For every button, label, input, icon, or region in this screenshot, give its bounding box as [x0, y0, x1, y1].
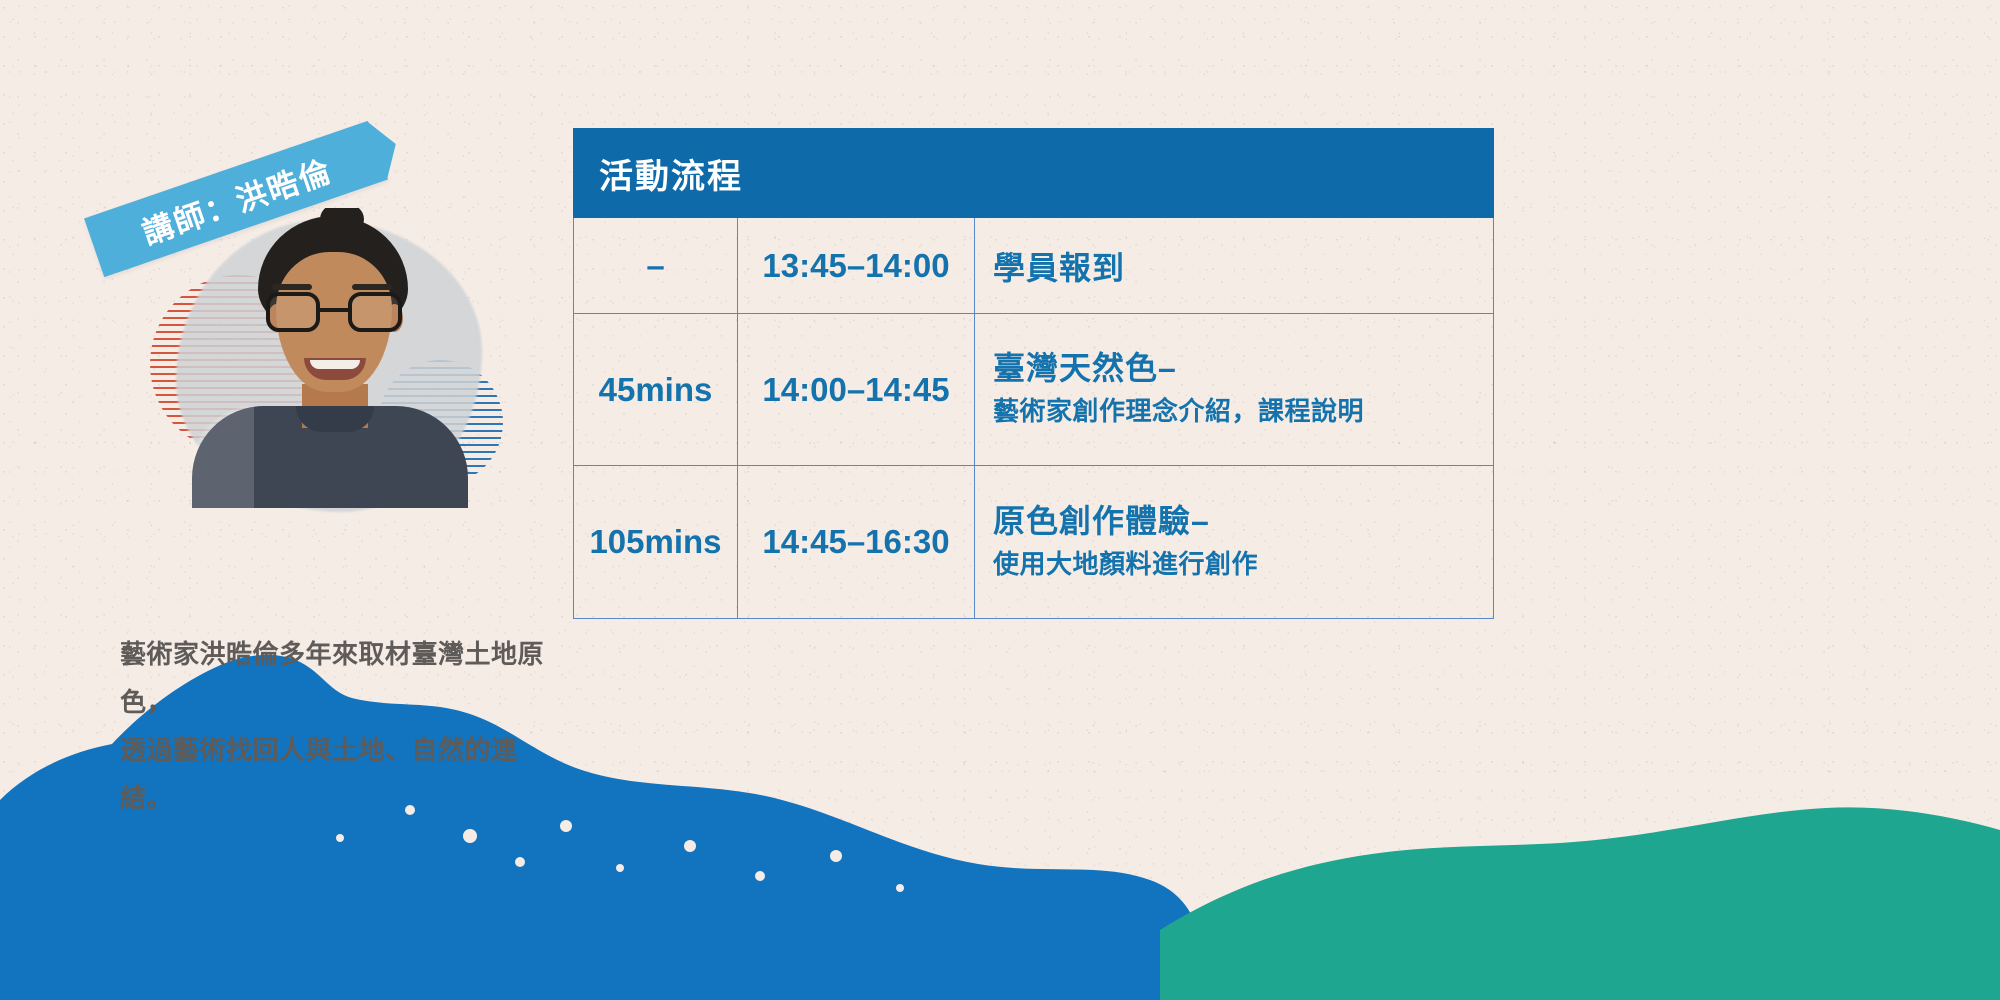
- table-row: 105mins 14:45–16:30 原色創作體驗– 使用大地顏料進行創作: [574, 466, 1493, 618]
- speaker-bio-caption: 藝術家洪晧倫多年來取材臺灣土地原色， 透過藝術找回人與土地、自然的連結。: [120, 630, 560, 822]
- glasses-lens-right: [348, 292, 402, 332]
- row-time: 14:45–16:30: [738, 466, 975, 618]
- schedule-table: 活動流程 – 13:45–14:00 學員報到 45mins 14:00–14:…: [573, 128, 1494, 619]
- row-description-title: 臺灣天然色–: [993, 348, 1493, 388]
- row-description: 臺灣天然色– 藝術家創作理念介紹，課程說明: [975, 314, 1493, 465]
- schedule-body: – 13:45–14:00 學員報到 45mins 14:00–14:45 臺灣…: [573, 218, 1494, 619]
- glasses-lens-left: [266, 292, 320, 332]
- speaker-bio-line-2: 透過藝術找回人與土地、自然的連結。: [120, 726, 560, 822]
- speaker-portrait: [184, 208, 474, 508]
- schedule-title: 活動流程: [573, 149, 743, 198]
- row-description-title: 學員報到: [993, 243, 1493, 289]
- row-duration: –: [574, 218, 738, 313]
- table-row: 45mins 14:00–14:45 臺灣天然色– 藝術家創作理念介紹，課程說明: [574, 314, 1493, 466]
- row-time: 13:45–14:00: [738, 218, 975, 313]
- table-row: – 13:45–14:00 學員報到: [574, 218, 1493, 314]
- portrait-shirt-highlight: [192, 406, 254, 508]
- paint-splash-teal: [1160, 807, 2000, 1000]
- speaker-bio-line-1: 藝術家洪晧倫多年來取材臺灣土地原色，: [120, 630, 560, 726]
- portrait-glasses: [266, 292, 402, 332]
- portrait-eyebrow-right: [352, 284, 392, 290]
- row-description-subtitle: 使用大地顏料進行創作: [993, 545, 1493, 584]
- row-description: 原色創作體驗– 使用大地顏料進行創作: [975, 466, 1493, 618]
- row-time: 14:00–14:45: [738, 314, 975, 465]
- portrait-illustration: [184, 208, 474, 508]
- row-description-title: 原色創作體驗–: [993, 501, 1493, 541]
- row-description-subtitle: 藝術家創作理念介紹，課程說明: [993, 392, 1493, 431]
- row-duration: 105mins: [574, 466, 738, 618]
- portrait-eyebrow-left: [272, 284, 312, 290]
- row-description: 學員報到: [975, 218, 1493, 313]
- schedule-header: 活動流程: [573, 128, 1494, 218]
- speaker-panel: 講師：洪晧倫 藝術家洪晧倫多年來取材臺灣土地原色， 透過藝術找: [0, 0, 573, 1000]
- row-duration: 45mins: [574, 314, 738, 465]
- glasses-bridge: [320, 308, 348, 312]
